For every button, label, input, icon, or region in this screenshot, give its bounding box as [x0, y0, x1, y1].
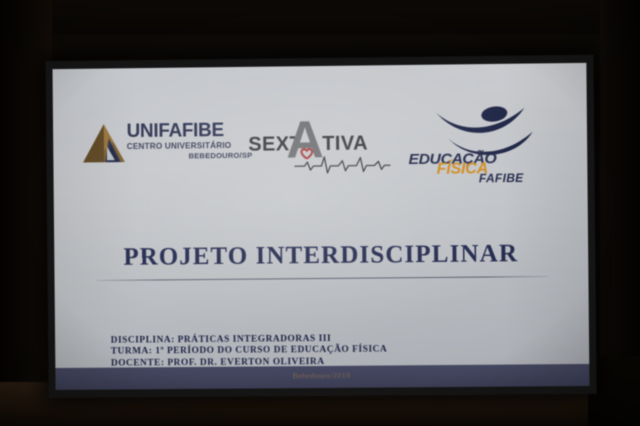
ecg-line-icon — [294, 153, 390, 174]
slide-footer-text: Bebedouro/2019 — [55, 369, 589, 382]
title-divider — [96, 276, 548, 281]
logo-sextativa: SEXT A TIVA — [248, 109, 395, 185]
slide-title-block: PROJETO INTERDISCIPLINAR — [54, 239, 588, 272]
presentation-slide: UNIFAFIBE CENTRO UNIVERSITÁRIO BEBEDOURO… — [53, 63, 590, 390]
sextativa-name-right: TIVA — [322, 132, 368, 154]
logo-unifafibe: UNIFAFIBE CENTRO UNIVERSITÁRIO BEBEDOURO… — [81, 113, 261, 185]
pyramid-icon — [81, 122, 127, 168]
photo-scene: UNIFAFIBE CENTRO UNIVERSITÁRIO BEBEDOURO… — [0, 0, 640, 426]
edfisica-line3: FAFIBE — [479, 171, 524, 185]
unifafibe-wordmark: UNIFAFIBE CENTRO UNIVERSITÁRIO BEBEDOURO… — [127, 121, 261, 162]
projection-screen: UNIFAFIBE CENTRO UNIVERSITÁRIO BEBEDOURO… — [45, 55, 596, 398]
unifafibe-name: UNIFAFIBE — [127, 121, 261, 142]
logo-edfisica-fafibe: EDUCAÇÃO FÍSICA FAFIBE — [404, 101, 561, 185]
slide-title: PROJETO INTERDISCIPLINAR — [54, 239, 588, 272]
unifafibe-city: BEBEDOURO/SP — [127, 151, 261, 162]
room-wall-left — [0, 0, 52, 426]
slide-footer-bar: Bebedouro/2019 — [55, 364, 589, 390]
logo-strip: UNIFAFIBE CENTRO UNIVERSITÁRIO BEBEDOURO… — [53, 99, 588, 191]
